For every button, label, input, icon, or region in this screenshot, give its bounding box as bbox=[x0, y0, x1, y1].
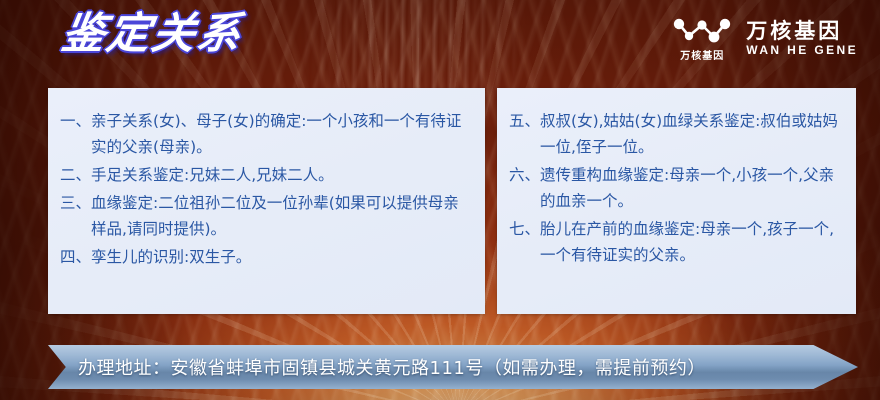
brand-name-en: WAN HE GENE bbox=[746, 44, 858, 57]
list-item-text: 叔叔(女),姑姑(女)血绿关系鉴定:叔伯或姑妈一位,侄子一位。 bbox=[540, 108, 842, 160]
list-item-text: 遗传重构血缘鉴定:母亲一个,小孩一个,父亲的血亲一个。 bbox=[540, 162, 842, 214]
brand-words: 万核基因 WAN HE GENE bbox=[746, 20, 858, 57]
list-item-number: 七、 bbox=[509, 216, 540, 242]
left-item-list: 一、 亲子关系(女)、母子(女)的确定:一个小孩和一个有待证实的父亲(母亲)。 … bbox=[60, 108, 471, 270]
list-item-number: 一、 bbox=[60, 108, 91, 134]
left-info-panel: 一、 亲子关系(女)、母子(女)的确定:一个小孩和一个有待证实的父亲(母亲)。 … bbox=[48, 88, 485, 314]
list-item-number: 六、 bbox=[509, 162, 540, 188]
header: 鉴定关系 bbox=[0, 0, 880, 88]
list-item: 六、 遗传重构血缘鉴定:母亲一个,小孩一个,父亲的血亲一个。 bbox=[509, 162, 842, 214]
list-item-text: 亲子关系(女)、母子(女)的确定:一个小孩和一个有待证实的父亲(母亲)。 bbox=[91, 108, 471, 160]
list-item-text: 孪生儿的识别:双生子。 bbox=[91, 244, 471, 270]
brand-mark-label: 万核基因 bbox=[680, 47, 724, 62]
list-item: 四、 孪生儿的识别:双生子。 bbox=[60, 244, 471, 270]
brand-name-cn: 万核基因 bbox=[746, 20, 858, 43]
brand-mark: 万核基因 bbox=[672, 16, 732, 62]
list-item: 三、 血缘鉴定:二位祖孙二位及一位孙辈(如果可以提供母亲样品,请同时提供)。 bbox=[60, 190, 471, 242]
brand-logo: 万核基因 万核基因 WAN HE GENE bbox=[672, 16, 858, 62]
list-item-number: 四、 bbox=[60, 244, 91, 270]
list-item-number: 二、 bbox=[60, 162, 91, 188]
list-item-number: 三、 bbox=[60, 190, 91, 216]
list-item-number: 五、 bbox=[509, 108, 540, 134]
list-item: 二、 手足关系鉴定:兄妹二人,兄妹二人。 bbox=[60, 162, 471, 188]
molecule-icon bbox=[672, 16, 732, 44]
banner-text: 办理地址：安徽省蚌埠市固镇县城关黄元路111号（如需办理，需提前预约） bbox=[78, 345, 798, 389]
list-item-text: 胎儿在产前的血缘鉴定:母亲一个,孩子一个,一个有待证实的父亲。 bbox=[540, 216, 842, 268]
right-item-list: 五、 叔叔(女),姑姑(女)血绿关系鉴定:叔伯或姑妈一位,侄子一位。 六、 遗传… bbox=[509, 108, 842, 268]
poster-canvas: 鉴定关系 bbox=[0, 0, 880, 400]
list-item: 七、 胎儿在产前的血缘鉴定:母亲一个,孩子一个,一个有待证实的父亲。 bbox=[509, 216, 842, 268]
list-item: 一、 亲子关系(女)、母子(女)的确定:一个小孩和一个有待证实的父亲(母亲)。 bbox=[60, 108, 471, 160]
list-item: 五、 叔叔(女),姑姑(女)血绿关系鉴定:叔伯或姑妈一位,侄子一位。 bbox=[509, 108, 842, 160]
list-item-text: 手足关系鉴定:兄妹二人,兄妹二人。 bbox=[91, 162, 471, 188]
right-info-panel: 五、 叔叔(女),姑姑(女)血绿关系鉴定:叔伯或姑妈一位,侄子一位。 六、 遗传… bbox=[497, 88, 856, 314]
page-title: 鉴定关系 bbox=[59, 13, 246, 56]
address-banner: 办理地址：安徽省蚌埠市固镇县城关黄元路111号（如需办理，需提前预约） bbox=[48, 345, 858, 389]
list-item-text: 血缘鉴定:二位祖孙二位及一位孙辈(如果可以提供母亲样品,请同时提供)。 bbox=[91, 190, 471, 242]
